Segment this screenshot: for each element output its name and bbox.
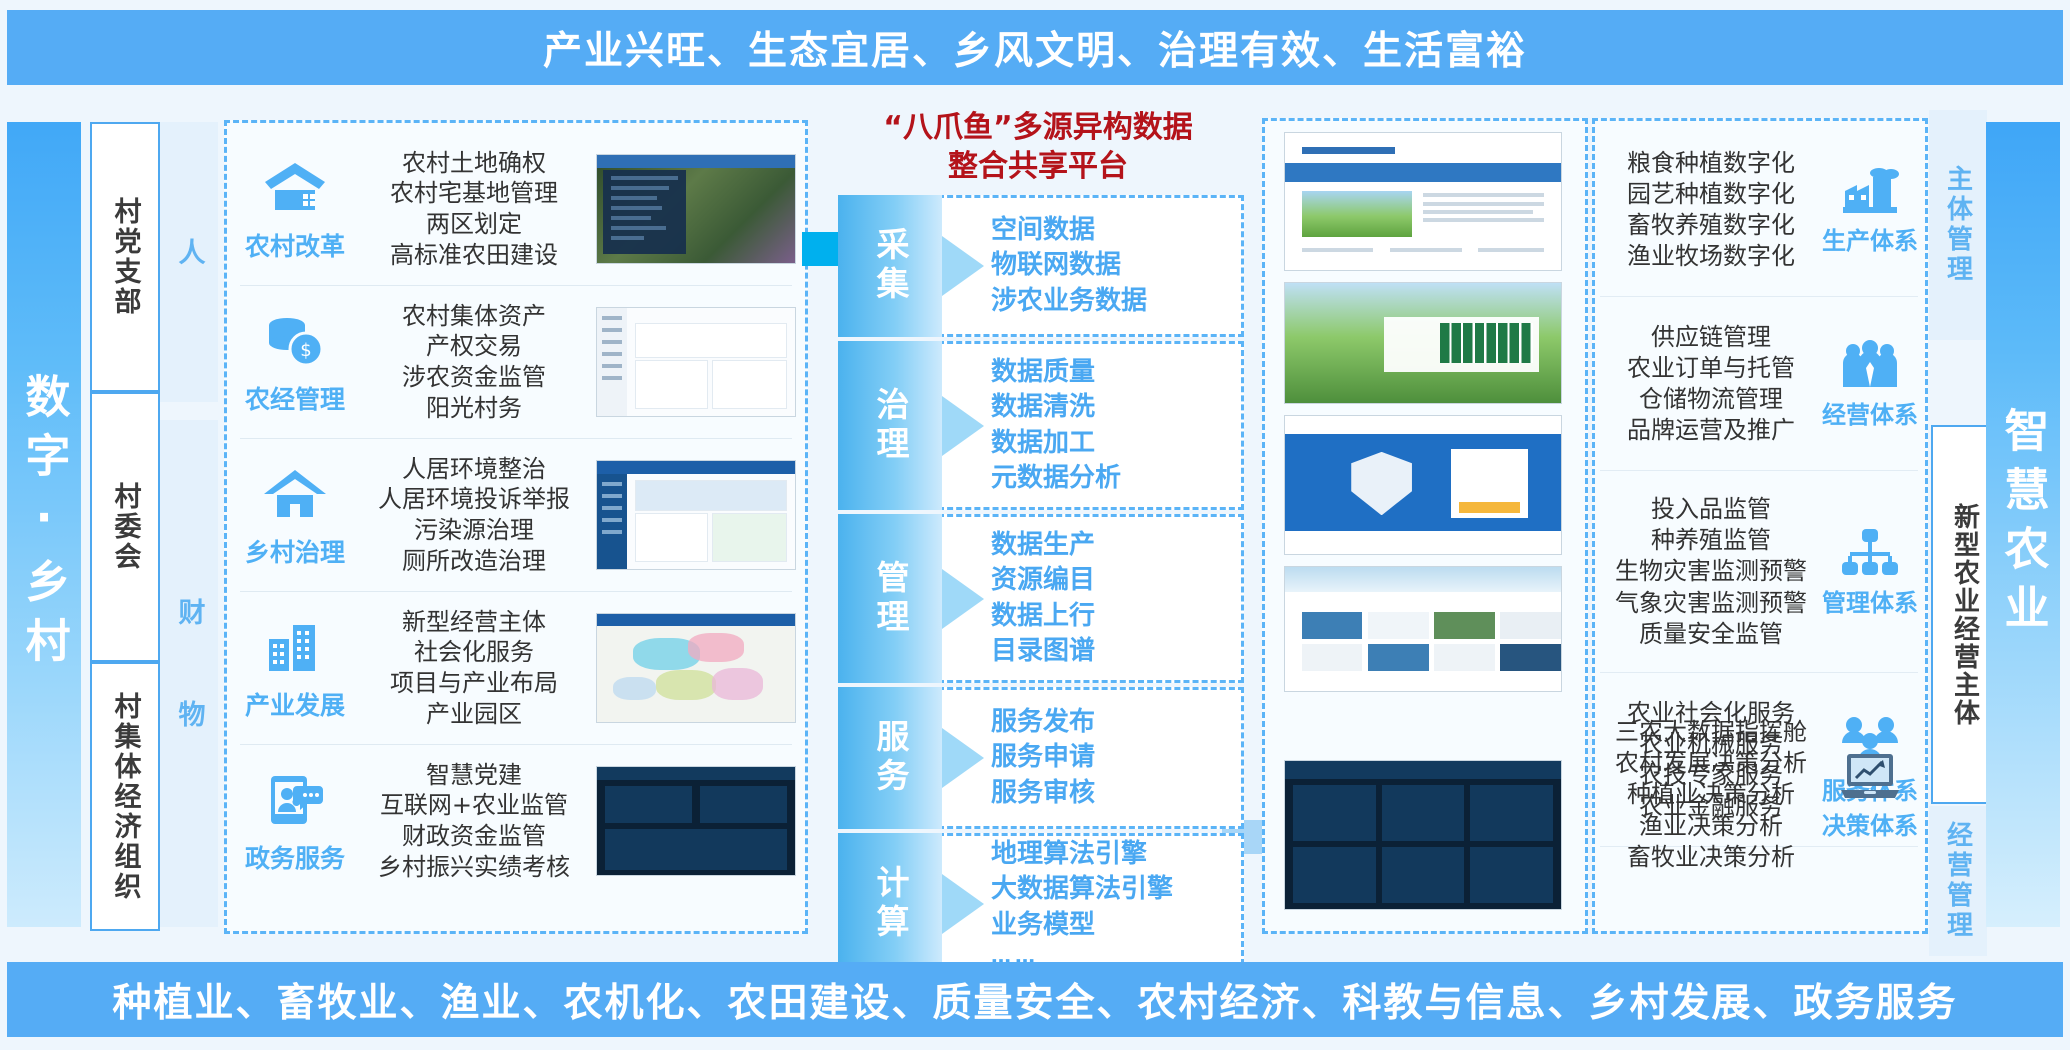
stage-tag: 采集 <box>838 195 942 337</box>
chip-people: 人 <box>160 122 218 402</box>
service-tiles-portal-screenshot[interactable] <box>1284 566 1562 692</box>
platform-title-line1: “八爪鱼”多源异构数据 <box>838 108 1238 147</box>
module-items: 人居环境整治 人居环境投诉举报 污染源治理 厕所改造治理 <box>354 454 590 577</box>
bigdata-command-cabin-screenshot[interactable] <box>1284 760 1562 910</box>
stage-collect[interactable]: 采集 空间数据 物联网数据 涉农业务数据 <box>838 195 1244 337</box>
module-items: 新型经营主体 社会化服务 项目与产业布局 产业园区 <box>354 607 590 730</box>
stage-item: 地理算法引擎 <box>991 837 1231 872</box>
system-item: 品牌运营及推广 <box>1600 415 1822 446</box>
module-item: 产业园区 <box>358 699 590 730</box>
stage-item: 空间数据 <box>991 213 1231 248</box>
system-caption: 决策体系 <box>1822 806 1918 841</box>
stage-item: 数据清洗 <box>991 390 1231 425</box>
module-caption: 农经管理 <box>245 380 345 416</box>
module-item: 人居环境投诉举报 <box>358 484 590 515</box>
module-item: 项目与产业布局 <box>358 668 590 699</box>
module-caption: 政务服务 <box>245 839 345 875</box>
stage-tag-label: 采集 <box>866 227 914 305</box>
module-caption: 乡村治理 <box>245 533 345 569</box>
traceability-qrcode-screenshot[interactable] <box>1284 282 1562 404</box>
module-row-government-service[interactable]: 政务服务 智慧党建 互联网+农业监管 财政资金监管 乡村振兴实绩考核 <box>236 745 796 897</box>
system-item: 供应链管理 <box>1600 322 1822 353</box>
module-caption: 农村改革 <box>245 227 345 263</box>
satellite-land-rights-screenshot[interactable] <box>596 154 796 264</box>
system-item: 粮食种植数字化 <box>1600 148 1822 179</box>
system-item: 三农大数据指挥舱 <box>1600 717 1822 748</box>
factory-icon <box>1839 165 1901 217</box>
module-item: 社会化服务 <box>358 637 590 668</box>
stage-item: 数据加工 <box>991 426 1231 461</box>
stage-compute[interactable]: 计算 地理算法引擎 大数据算法引擎 业务模型 …… <box>838 833 1244 974</box>
org-box-collective-economy: 村集体经济组织 <box>90 662 160 931</box>
stage-tag-label: 治理 <box>866 387 914 465</box>
system-item: 畜牧养殖数字化 <box>1600 210 1822 241</box>
laptop-chart-icon <box>1839 750 1901 802</box>
module-item: 互联网+农业监管 <box>358 790 590 821</box>
chip-entity-management: 主体管理 <box>1929 110 1987 340</box>
top-banner: 产业兴旺、生态宜居、乡风文明、治理有效、生活富裕 <box>7 10 2063 85</box>
stage-tag: 计算 <box>838 833 942 974</box>
chip-label: 人 <box>170 238 209 287</box>
system-caption: 经营体系 <box>1822 395 1918 430</box>
digital-village-band-label: 数字·乡村 <box>12 373 77 676</box>
stage-items: 数据质量 数据清洗 数据加工 元数据分析 <box>991 344 1231 507</box>
system-item: 畜牧业决策分析 <box>1600 842 1822 873</box>
row-divider <box>1600 296 1918 297</box>
chip-finance-assets: 财 物 <box>160 420 218 927</box>
module-item: 两区划定 <box>358 209 590 240</box>
system-item: 种植业决策分析 <box>1600 779 1822 810</box>
module-item: 高标准农田建设 <box>358 240 590 271</box>
system-item: 渔业牧场数字化 <box>1600 241 1822 272</box>
module-icon-wrap: 产业发展 <box>236 614 354 722</box>
module-row-rural-economy[interactable]: $ 农经管理 农村集体资产 产权交易 涉农资金监管 阳光村务 <box>236 286 796 438</box>
stage-item: 服务申请 <box>991 740 1231 775</box>
svg-text:$: $ <box>300 340 311 361</box>
org-box-label: 村党支部 <box>106 197 145 317</box>
stage-items: 地理算法引擎 大数据算法引擎 业务模型 …… <box>991 836 1231 971</box>
module-item: 产权交易 <box>358 331 590 362</box>
stage-tag: 治理 <box>838 341 942 510</box>
module-item: 乡村振兴实绩考核 <box>358 852 590 883</box>
module-items: 智慧党建 互联网+农业监管 财政资金监管 乡村振兴实绩考核 <box>354 760 590 883</box>
row-divider <box>1600 672 1918 673</box>
stage-item: 服务发布 <box>991 705 1231 740</box>
system-item: 投入品监管 <box>1600 494 1822 525</box>
stage-service[interactable]: 服务 服务发布 服务申请 服务审核 <box>838 687 1244 829</box>
stage-govern[interactable]: 治理 数据质量 数据清洗 数据加工 元数据分析 <box>838 341 1244 510</box>
chip-label: 经营管理 <box>1940 821 1977 941</box>
org-box-label: 村集体经济组织 <box>106 692 145 902</box>
module-item: 农村集体资产 <box>358 301 590 332</box>
stage-tag: 管理 <box>838 514 942 683</box>
bottom-banner-text: 种植业、畜牧业、渔业、农机化、农田建设、质量安全、农村经济、科教与信息、乡村发展… <box>112 972 1957 1028</box>
stage-item: 涉农业务数据 <box>991 284 1231 319</box>
system-item: 农业订单与托管 <box>1600 353 1822 384</box>
module-item: 污染源治理 <box>358 515 590 546</box>
mobile-service-icon <box>263 767 327 833</box>
module-item: 智慧党建 <box>358 760 590 791</box>
industry-layout-map-screenshot[interactable] <box>596 613 796 723</box>
org-box-label: 新型农业经营主体 <box>1947 503 1984 727</box>
module-row-industry-development[interactable]: 产业发展 新型经营主体 社会化服务 项目与产业布局 产业园区 <box>236 592 796 744</box>
stage-item: 大数据算法引擎 <box>991 872 1231 907</box>
system-icon-wrap: 管理体系 <box>1822 527 1918 618</box>
stage-item: 数据上行 <box>991 599 1231 634</box>
government-service-dark-dashboard-screenshot[interactable] <box>596 766 796 876</box>
org-box-label: 村委会 <box>106 482 145 572</box>
module-icon-wrap: 乡村治理 <box>236 461 354 569</box>
module-items: 农村集体资产 产权交易 涉农资金监管 阳光村务 <box>354 301 590 424</box>
agriculture-portal-screenshot[interactable] <box>1284 132 1562 271</box>
chip-label: 财 物 <box>170 598 209 749</box>
module-icon-wrap: $ 农经管理 <box>236 308 354 416</box>
stage-item: 业务模型 <box>991 908 1231 943</box>
system-items: 三农大数据指挥舱 农村发展决策分析 种植业决策分析 渔业决策分析 畜牧业决策分析 <box>1600 717 1822 873</box>
system-items: 供应链管理 农业订单与托管 仓储物流管理 品牌运营及推广 <box>1600 322 1822 447</box>
stage-items: 数据生产 资源编目 数据上行 目录图谱 <box>991 517 1231 680</box>
module-item: 新型经营主体 <box>358 607 590 638</box>
module-item: 财政资金监管 <box>358 821 590 852</box>
module-item: 厕所改造治理 <box>358 546 590 577</box>
module-row-village-governance[interactable]: 乡村治理 人居环境整治 人居环境投诉举报 污染源治理 厕所改造治理 <box>236 439 796 591</box>
asset-management-console-screenshot[interactable] <box>596 307 796 417</box>
system-caption: 管理体系 <box>1822 583 1918 618</box>
org-box-village-committee: 村委会 <box>90 392 160 662</box>
org-box-party-branch: 村党支部 <box>90 122 160 392</box>
food-safety-login-screenshot[interactable] <box>1284 415 1562 555</box>
module-item: 阳光村务 <box>358 393 590 424</box>
module-caption: 产业发展 <box>245 686 345 722</box>
stage-item: 数据生产 <box>991 528 1231 563</box>
system-row-operation[interactable]: 供应链管理 农业订单与托管 仓储物流管理 品牌运营及推广 经营体系 <box>1600 300 1918 468</box>
row-divider <box>1600 470 1918 471</box>
system-item: 园艺种植数字化 <box>1600 179 1822 210</box>
stage-items: 服务发布 服务申请 服务审核 <box>991 690 1231 826</box>
digital-village-band: 数字·乡村 <box>7 122 81 927</box>
stage-manage[interactable]: 管理 数据生产 资源编目 数据上行 目录图谱 <box>838 514 1244 683</box>
chip-label: 主体管理 <box>1940 165 1977 285</box>
module-item: 涉农资金监管 <box>358 362 590 393</box>
stage-item: 资源编目 <box>991 563 1231 598</box>
system-item: 生物灾害监测预警 <box>1600 556 1822 587</box>
top-banner-text: 产业兴旺、生态宜居、乡风文明、治理有效、生活富裕 <box>543 20 1527 76</box>
system-caption: 生产体系 <box>1822 221 1918 256</box>
system-icon-wrap: 经营体系 <box>1822 339 1918 430</box>
stage-tag-label: 管理 <box>866 560 914 638</box>
module-item: 农村宅基地管理 <box>358 178 590 209</box>
stage-item: 元数据分析 <box>991 461 1231 496</box>
left-connector-block <box>802 232 838 266</box>
system-item: 仓储物流管理 <box>1600 384 1822 415</box>
house-reform-icon <box>263 155 327 221</box>
org-hierarchy-icon <box>1839 527 1901 579</box>
stage-tag-label: 服务 <box>866 719 914 797</box>
system-items: 粮食种植数字化 园艺种植数字化 畜牧养殖数字化 渔业牧场数字化 <box>1600 148 1822 273</box>
system-items: 投入品监管 种养殖监管 生物灾害监测预警 气象灾害监测预警 质量安全监管 <box>1600 494 1822 650</box>
system-item: 质量安全监管 <box>1600 619 1822 650</box>
system-icon-wrap: 生产体系 <box>1822 165 1918 256</box>
platform-title: “八爪鱼”多源异构数据 整合共享平台 <box>838 108 1238 186</box>
system-row-management[interactable]: 投入品监管 种养殖监管 生物灾害监测预警 气象灾害监测预警 质量安全监管 <box>1600 474 1918 670</box>
module-row-rural-reform[interactable]: 农村改革 农村土地确权 农村宅基地管理 两区划定 高标准农田建设 <box>236 133 796 285</box>
platform-title-line2: 整合共享平台 <box>838 147 1238 186</box>
stage-item: 物联网数据 <box>991 248 1231 283</box>
village-governance-dashboard-screenshot[interactable] <box>596 460 796 570</box>
buildings-industry-icon <box>263 614 327 680</box>
system-icon-wrap: 决策体系 <box>1822 750 1918 841</box>
module-item: 农村土地确权 <box>358 148 590 179</box>
chip-operation-management: 经营管理 <box>1929 806 1987 956</box>
system-item: 农村发展决策分析 <box>1600 748 1822 779</box>
system-item: 气象灾害监测预警 <box>1600 588 1822 619</box>
bottom-banner: 种植业、畜牧业、渔业、农机化、农田建设、质量安全、农村经济、科教与信息、乡村发展… <box>7 962 2063 1037</box>
stage-tag-label: 计算 <box>866 865 914 943</box>
stage-item: 目录图谱 <box>991 634 1231 669</box>
smart-agriculture-band: 智慧农业 <box>1986 122 2060 927</box>
stage-items: 空间数据 物联网数据 涉农业务数据 <box>991 198 1231 334</box>
home-village-icon <box>263 461 327 527</box>
module-item: 人居环境整治 <box>358 454 590 485</box>
system-row-production[interactable]: 粮食种植数字化 园艺种植数字化 畜牧养殖数字化 渔业牧场数字化 生产体系 <box>1600 126 1918 294</box>
system-item: 渔业决策分析 <box>1600 811 1822 842</box>
stage-item: 数据质量 <box>991 355 1231 390</box>
module-icon-wrap: 农村改革 <box>236 155 354 263</box>
stage-tag: 服务 <box>838 687 942 829</box>
system-row-decision[interactable]: 三农大数据指挥舱 农村发展决策分析 种植业决策分析 渔业决策分析 畜牧业决策分析… <box>1600 700 1918 890</box>
infographic-canvas: 产业兴旺、生态宜居、乡风文明、治理有效、生活富裕 数字·乡村 村党支部 村委会 … <box>0 0 2070 1050</box>
smart-agriculture-band-label: 智慧农业 <box>1991 407 2056 643</box>
coins-money-icon: $ <box>263 308 327 374</box>
system-item: 种养殖监管 <box>1600 525 1822 556</box>
stage-item: 服务审核 <box>991 776 1231 811</box>
module-icon-wrap: 政务服务 <box>236 767 354 875</box>
module-items: 农村土地确权 农村宅基地管理 两区划定 高标准农田建设 <box>354 148 590 271</box>
team-group-icon <box>1839 339 1901 391</box>
